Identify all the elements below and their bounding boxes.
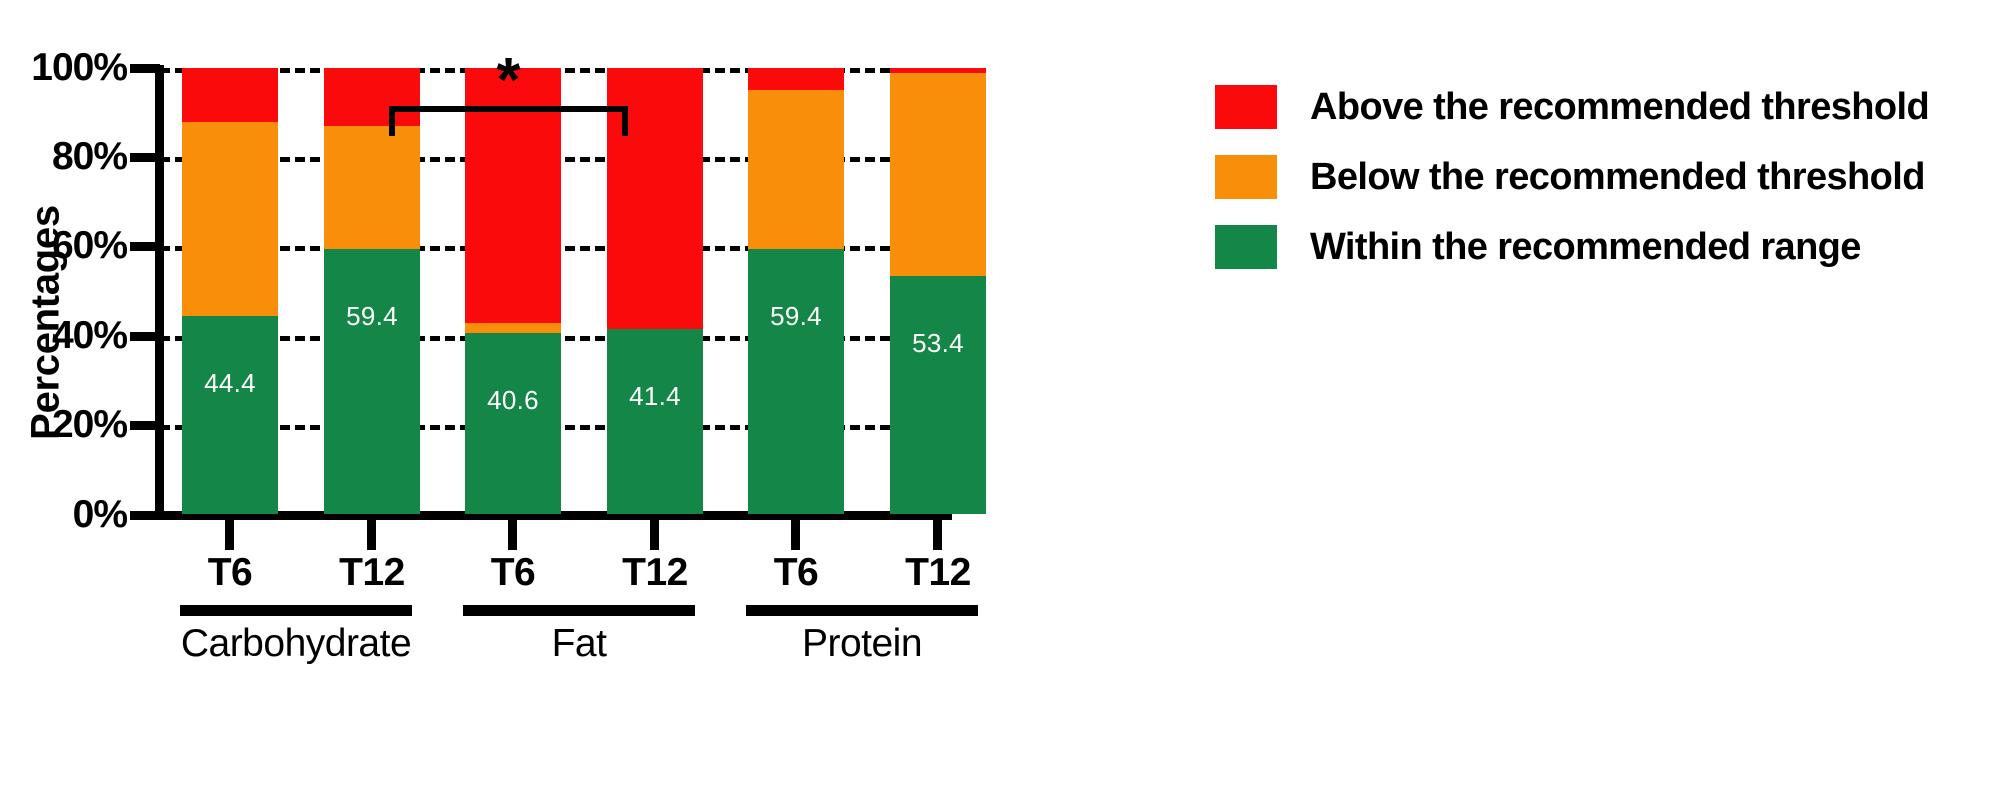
y-tick-label-60: 60% (0, 224, 127, 268)
bar-value-label: 40.6 (465, 385, 561, 416)
bar-value-label: 44.4 (182, 368, 278, 399)
bar-protein-t6[interactable]: 59.4 (748, 68, 844, 514)
x-tick-label-protein-t12: T12 (868, 551, 1008, 595)
y-tick-label-40: 40% (0, 314, 127, 358)
x-tick-mark-protein-t12 (933, 520, 942, 550)
legend-item-above[interactable]: Above the recommended threshold (1215, 72, 2008, 142)
legend-swatch-above-icon (1215, 85, 1277, 129)
x-tick-label-carbohydrate-t6: T6 (160, 551, 300, 595)
bar-segment-above (182, 68, 278, 122)
bar-segment-below (182, 122, 278, 317)
x-tick-label-protein-t6: T6 (726, 551, 866, 595)
chart-figure: Percentages 100% 80% 60% 40% 20% 0% 44.4 (0, 0, 2008, 808)
legend-label-within: Within the recommended range (1310, 226, 1861, 269)
bar-value-label: 59.4 (748, 301, 844, 332)
y-tick-label-80: 80% (0, 135, 127, 179)
y-tick-label-0: 0% (0, 493, 127, 537)
bar-segment-above (748, 68, 844, 90)
x-tick-mark-protein-t6 (791, 520, 800, 550)
x-tick-label-carbohydrate-t12: T12 (302, 551, 442, 595)
bar-segment-below (465, 323, 561, 333)
bar-segment-below (748, 90, 844, 249)
y-tick-label-100: 100% (0, 46, 127, 90)
bar-segment-within: 59.4 (324, 249, 420, 514)
group-label-protein: Protein (746, 622, 978, 666)
bar-segment-below (890, 73, 986, 276)
group-label-fat: Fat (463, 622, 695, 666)
legend-item-within[interactable]: Within the recommended range (1215, 212, 2008, 282)
bar-protein-t12[interactable]: 53.4 (890, 68, 986, 514)
x-tick-mark-fat-t6 (508, 520, 517, 550)
x-tick-mark-carbohydrate-t12 (367, 520, 376, 550)
group-underline-carbohydrate (180, 605, 412, 616)
legend: Above the recommended threshold Below th… (1215, 72, 2008, 282)
legend-item-below[interactable]: Below the recommended threshold (1215, 142, 2008, 212)
group-label-carbohydrate: Carbohydrate (180, 622, 412, 666)
bar-value-label: 59.4 (324, 301, 420, 332)
bar-segment-within: 53.4 (890, 276, 986, 514)
bar-segment-within: 44.4 (182, 316, 278, 514)
legend-label-above: Above the recommended threshold (1310, 86, 1929, 129)
bar-value-label: 41.4 (607, 381, 703, 412)
group-underline-fat (463, 605, 695, 616)
legend-swatch-below-icon (1215, 155, 1277, 199)
bar-value-label: 53.4 (890, 328, 986, 359)
bar-segment-below (324, 126, 420, 249)
x-tick-label-fat-t12: T12 (585, 551, 725, 595)
bar-carbohydrate-t6[interactable]: 44.4 (182, 68, 278, 514)
bar-segment-within: 41.4 (607, 329, 703, 514)
legend-swatch-within-icon (1215, 225, 1277, 269)
legend-label-below: Below the recommended threshold (1310, 156, 1925, 199)
significance-asterisk: * (389, 50, 628, 112)
x-tick-mark-fat-t12 (650, 520, 659, 550)
y-axis-tick-labels: 100% 80% 60% 40% 20% 0% (0, 0, 127, 808)
plot-area: 44.4 59.4 40.6 41.4 (160, 68, 950, 514)
bar-segment-within: 59.4 (748, 249, 844, 514)
x-tick-label-fat-t6: T6 (443, 551, 583, 595)
y-tick-label-20: 20% (0, 403, 127, 447)
x-tick-mark-carbohydrate-t6 (225, 520, 234, 550)
group-underline-protein (746, 605, 978, 616)
bar-segment-within: 40.6 (465, 333, 561, 514)
